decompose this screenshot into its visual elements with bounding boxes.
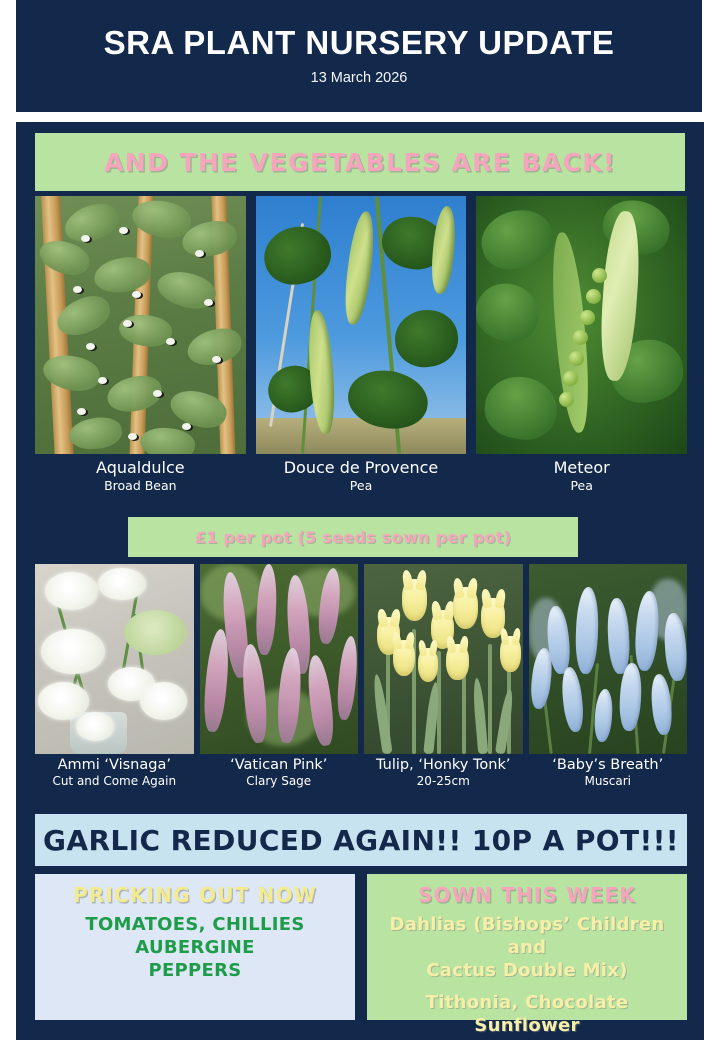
body-panel: AND THE VEGETABLES ARE BACK! (16, 122, 704, 1040)
caption-name: Meteor (476, 458, 687, 478)
caption-sub: Cut and Come Again (35, 774, 194, 790)
pricking-out-line: PEPPERS (41, 959, 349, 982)
caption-group: ‘Vatican Pink’ Clary Sage (200, 756, 359, 806)
caption-group: Meteor Pea (476, 458, 687, 510)
sown-this-week-heading: SOWN THIS WEEK (373, 883, 681, 908)
pricking-out-line: AUBERGINE (41, 936, 349, 959)
header-banner: SRA PLANT NURSERY UPDATE 13 March 2026 (16, 0, 702, 112)
caption-sub: Pea (476, 478, 687, 494)
flower-photo-row (35, 564, 687, 754)
caption-sub: Clary Sage (200, 774, 359, 790)
price-banner-text: £1 per pot (5 seeds sown per pot) (195, 528, 511, 547)
flower-photo-cell (200, 564, 359, 754)
flower-photo-cell (529, 564, 688, 754)
vegetable-photo-row (35, 196, 687, 454)
caption-group: ‘Baby’s Breath’ Muscari (529, 756, 688, 806)
caption-sub: Muscari (529, 774, 688, 790)
caption-name: Ammi ‘Visnaga’ (35, 756, 194, 774)
caption-group: Ammi ‘Visnaga’ Cut and Come Again (35, 756, 194, 806)
clary-sage-pink-spikes-photo (200, 564, 359, 754)
blue-muscari-photo (529, 564, 688, 754)
vegetable-photo-cell (35, 196, 246, 454)
spacer (373, 982, 681, 991)
pea-pods-on-vine-photo (256, 196, 467, 454)
broad-bean-plants-photo (35, 196, 246, 454)
caption-group: Aqualdulce Broad Bean (35, 458, 246, 510)
caption-group: Douce de Provence Pea (256, 458, 467, 510)
vegetable-captions: Aqualdulce Broad Bean Douce de Provence … (35, 458, 687, 510)
flower-photo-cell (364, 564, 523, 754)
sown-this-week-line: Tithonia, Chocolate Sunflower (373, 991, 681, 1037)
caption-sub: 20-25cm (364, 774, 523, 790)
caption-group: Tulip, ‘Honky Tonk’ 20-25cm (364, 756, 523, 806)
yellow-tulips-photo (364, 564, 523, 754)
pricking-out-line: TOMATOES, CHILLIES (41, 913, 349, 936)
vegetables-banner-text: AND THE VEGETABLES ARE BACK! (104, 148, 616, 177)
open-pea-pod-photo (476, 196, 687, 454)
caption-name: Tulip, ‘Honky Tonk’ (364, 756, 523, 774)
header-date: 13 March 2026 (311, 70, 408, 86)
garlic-banner: GARLIC REDUCED AGAIN!! 10P A POT!!! (35, 814, 687, 866)
caption-name: ‘Vatican Pink’ (200, 756, 359, 774)
vegetable-photo-cell (256, 196, 467, 454)
flower-captions: Ammi ‘Visnaga’ Cut and Come Again ‘Vatic… (35, 756, 687, 806)
page-title: SRA PLANT NURSERY UPDATE (104, 26, 615, 61)
flower-photo-cell (35, 564, 194, 754)
newsletter-page: SRA PLANT NURSERY UPDATE 13 March 2026 A… (0, 0, 720, 1040)
sown-this-week-line: Cactus Double Mix) (373, 959, 681, 982)
caption-name: Douce de Provence (256, 458, 467, 478)
caption-sub: Pea (256, 478, 467, 494)
caption-name: ‘Baby’s Breath’ (529, 756, 688, 774)
bottom-panels: PRICKING OUT NOW TOMATOES, CHILLIES AUBE… (35, 874, 687, 1020)
ammi-white-flowers-photo (35, 564, 194, 754)
vegetables-banner: AND THE VEGETABLES ARE BACK! (35, 133, 685, 191)
pricking-out-panel: PRICKING OUT NOW TOMATOES, CHILLIES AUBE… (35, 874, 355, 1020)
garlic-banner-text: GARLIC REDUCED AGAIN!! 10P A POT!!! (43, 824, 679, 857)
sown-this-week-panel: SOWN THIS WEEK Dahlias (Bishops’ Childre… (367, 874, 687, 1020)
vegetable-photo-cell (476, 196, 687, 454)
pricking-out-heading: PRICKING OUT NOW (41, 883, 349, 908)
sown-this-week-line: Dahlias (Bishops’ Children and (373, 913, 681, 959)
caption-name: Aqualdulce (35, 458, 246, 478)
caption-sub: Broad Bean (35, 478, 246, 494)
price-banner: £1 per pot (5 seeds sown per pot) (128, 517, 578, 557)
